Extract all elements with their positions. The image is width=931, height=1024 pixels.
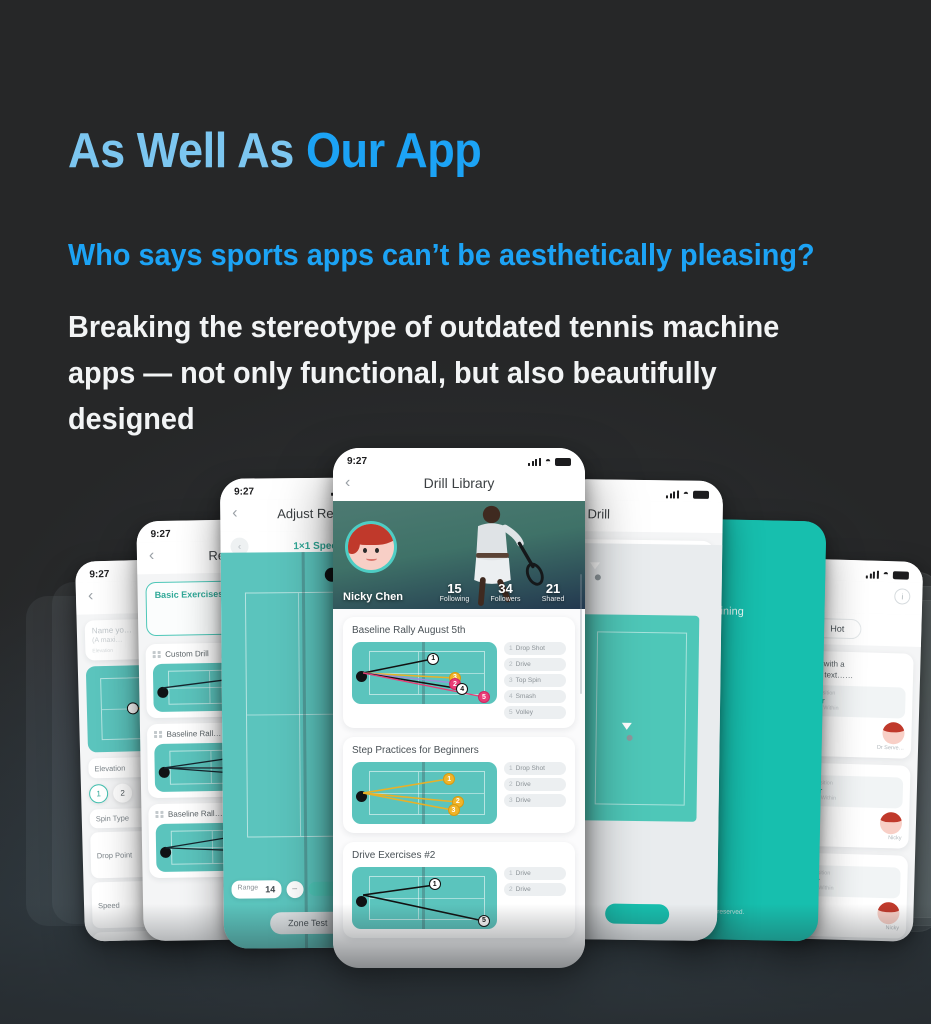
avatar[interactable] (880, 812, 903, 835)
avatar[interactable] (345, 521, 397, 573)
profile-stats: 15 Following 34 Followers 21 Shared (429, 582, 575, 603)
page-title-part-b: Our App (306, 124, 481, 178)
nav-title: Drill Library (361, 475, 557, 491)
trajectory-lines (352, 762, 497, 824)
stat-followers-label: Followers (491, 596, 521, 603)
back-icon[interactable]: ‹ (88, 588, 104, 604)
shot-node-4: 4 (456, 683, 468, 695)
shot-item[interactable]: 1Drive (504, 867, 566, 880)
shot-node-3: 3 (448, 804, 460, 816)
shot-node-1: 1 (427, 653, 439, 665)
page-title-part-a: As Well As (68, 124, 306, 178)
profile-summary: Nicky Chen 15 Following 34 Followers 21 … (333, 582, 585, 603)
signal-icon (666, 490, 679, 498)
shot-name: Drive (516, 661, 531, 668)
signal-icon (866, 570, 879, 578)
list-item-label: Baseline Rall… (166, 729, 221, 739)
status-time: 9:27 (347, 456, 367, 467)
nav-bar: n Drill (562, 500, 722, 533)
list-item-label: Baseline Rall… (168, 809, 223, 819)
avatar-hair (877, 902, 900, 912)
shot-list: 1Drop Shot 2Drive 3Drive (504, 762, 566, 824)
shot-index: 2 (509, 661, 513, 668)
wifi-icon: ◓ (883, 569, 889, 580)
drag-handle-icon[interactable] (154, 731, 162, 739)
shot-index: 5 (509, 709, 513, 716)
shot-item[interactable]: 5Volley (504, 706, 566, 719)
range-value: 14 (265, 884, 275, 894)
back-icon[interactable]: ‹ (149, 548, 165, 564)
drag-handle-icon[interactable] (153, 651, 161, 659)
avatar-mouth (366, 556, 377, 561)
shot-node-1: 1 (443, 773, 455, 785)
drill-card[interactable]: Baseline Rally August 5th 1 (343, 617, 575, 728)
drill-body: 1 2 3 1Drop Shot 2Drive 3Drive (352, 762, 566, 824)
wifi-icon: ◓ (545, 456, 551, 467)
stepper-2[interactable]: 2 (113, 783, 132, 802)
subheadline: Who says sports apps can’t be aesthetica… (68, 237, 831, 274)
status-time: 9:27 (150, 529, 170, 540)
shot-name: Volley (516, 709, 533, 716)
shot-item[interactable]: 2Drive (504, 883, 566, 896)
status-time: 9:27 (234, 486, 254, 497)
decrement-button[interactable]: − (286, 881, 303, 898)
map-pin[interactable] (590, 569, 606, 590)
trajectory-lines (352, 642, 497, 704)
drill-card[interactable]: Step Practices for Beginners 1 2 3 (343, 737, 575, 833)
nav-bar: ‹ Drill Library (333, 469, 585, 501)
primary-action-button[interactable] (605, 904, 669, 925)
drill-list: Baseline Rally August 5th 1 (333, 609, 585, 957)
avatar-hair (880, 812, 903, 822)
shot-index: 1 (509, 765, 513, 772)
stat-following[interactable]: 15 Following (440, 582, 470, 603)
shot-name: Drive (516, 886, 531, 893)
stat-following-label: Following (440, 596, 470, 603)
back-icon[interactable]: ‹ (345, 475, 361, 491)
shot-item[interactable]: 3Top Spin (504, 674, 566, 687)
shot-list: 1Drive 2Drive (504, 867, 566, 929)
shot-node-5: 5 (478, 915, 490, 927)
shot-index: 2 (509, 886, 513, 893)
status-bar: ◓ (563, 479, 723, 502)
trajectory-lines (352, 867, 497, 929)
avatar-eye-right (375, 548, 379, 553)
stat-shared-label: Shared (542, 596, 565, 603)
headings-block: As Well As Our App Who says sports apps … (68, 126, 888, 442)
shot-item[interactable]: 2Drive (504, 658, 566, 671)
shot-name: Drive (516, 797, 531, 804)
status-icons: ◓ (666, 488, 709, 500)
stat-shared[interactable]: 21 Shared (542, 582, 565, 603)
court-thumbnail[interactable]: 1 2 3 (352, 762, 497, 824)
range-box[interactable]: Range 14 (231, 880, 281, 898)
shot-item[interactable]: 4Smash (504, 690, 566, 703)
shot-item[interactable]: 1Drop Shot (504, 762, 566, 775)
shot-item[interactable]: 2Drive (504, 778, 566, 791)
drag-handle-icon[interactable] (155, 811, 163, 819)
phone-showcase: 9:27 ◓ ‹ N Name yo… (A maxi… Elevation E (0, 420, 931, 980)
nav-title: n Drill (575, 506, 711, 523)
avatar-hair-side (348, 532, 360, 554)
info-icon[interactable]: i (894, 588, 910, 604)
shot-index: 4 (509, 693, 513, 700)
shot-index: 3 (509, 677, 513, 684)
shot-item[interactable]: 3Drive (504, 794, 566, 807)
page-title: As Well As Our App (68, 126, 822, 177)
status-bar: 9:27 ◓ (333, 448, 585, 469)
shot-name: Drop Shot (516, 645, 545, 652)
shot-index: 2 (509, 781, 513, 788)
shot-name: Drop Shot (516, 765, 545, 772)
battery-icon (893, 571, 909, 579)
drill-body: 1 5 1Drive 2Drive (352, 867, 566, 929)
shot-node-5: 5 (478, 691, 490, 703)
scrollbar[interactable] (580, 574, 583, 694)
avatar-eye-left (363, 548, 367, 553)
range-label: Range (237, 884, 258, 894)
list-item-label: Custom Drill (165, 649, 209, 659)
avatar[interactable] (877, 902, 900, 925)
court-thumbnail[interactable]: 1 5 (352, 867, 497, 929)
court-thumbnail[interactable]: 1 3 2 4 5 (352, 642, 497, 704)
status-icons: ◓ (528, 456, 571, 467)
stat-followers-value: 34 (491, 582, 521, 596)
avatar-hair (882, 722, 905, 732)
shot-name: Smash (516, 693, 536, 700)
map-court (578, 614, 699, 822)
drill-card[interactable]: Drive Exercises #2 1 5 1Dri (343, 842, 575, 938)
shot-name: Drive (516, 781, 531, 788)
stat-followers[interactable]: 34 Followers (491, 582, 521, 603)
avatar-face (348, 524, 394, 570)
status-icons: ◓ (866, 568, 909, 580)
profile-name: Nicky Chen (343, 591, 429, 603)
shot-index: 1 (509, 645, 513, 652)
signal-icon (528, 458, 541, 466)
stepper-1[interactable]: 1 (89, 784, 108, 803)
shot-item[interactable]: 1Drop Shot (504, 642, 566, 655)
wifi-icon: ◓ (683, 489, 689, 500)
map-pin[interactable] (621, 730, 637, 751)
shot-index: 1 (509, 870, 513, 877)
drill-title: Baseline Rally August 5th (352, 625, 566, 636)
drill-title: Drive Exercises #2 (352, 850, 566, 861)
drill-body: 1 3 2 4 5 1Drop Shot 2Drive 3Top Spin 4S… (352, 642, 566, 719)
phone-drill-library[interactable]: 9:27 ◓ ‹ Drill Library (333, 448, 585, 968)
stat-shared-value: 21 (542, 582, 565, 596)
shot-list: 1Drop Shot 2Drive 3Top Spin 4Smash 5Voll… (504, 642, 566, 719)
battery-icon (693, 490, 709, 498)
avatar[interactable] (882, 722, 905, 745)
shot-name: Drive (516, 870, 531, 877)
shot-index: 3 (509, 797, 513, 804)
status-time: 9:27 (89, 569, 109, 581)
battery-icon (555, 458, 571, 466)
back-icon[interactable]: ‹ (232, 505, 248, 521)
shot-node-1: 1 (429, 878, 441, 890)
drill-title: Step Practices for Beginners (352, 745, 566, 756)
shot-name: Top Spin (516, 677, 541, 684)
body-copy-line-1: Breaking the stereotype of outdated tenn… (68, 304, 812, 350)
stat-following-value: 15 (440, 582, 470, 596)
profile-hero-banner: Nicky Chen 15 Following 34 Followers 21 … (333, 501, 585, 609)
